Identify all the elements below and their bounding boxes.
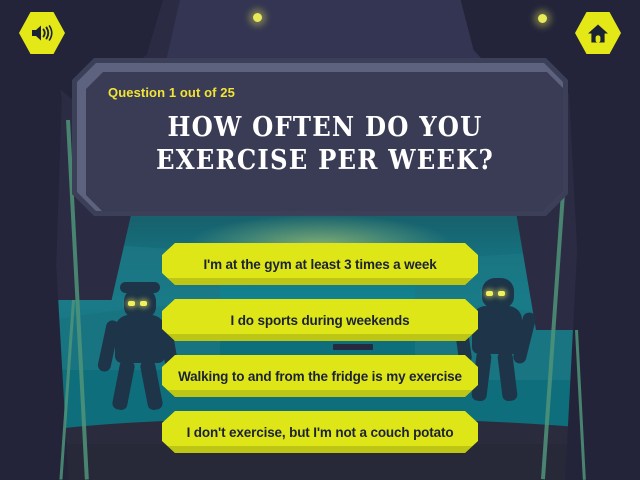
question-panel-body: Question 1 out of 25 How often do you ex… — [86, 72, 564, 212]
button-shade — [162, 334, 478, 341]
button-shade — [162, 390, 478, 397]
quiz-screen: Question 1 out of 25 How often do you ex… — [0, 0, 640, 480]
firefly-1 — [253, 13, 262, 22]
question-text: How often do you exercise per week? — [86, 112, 564, 178]
answer-row: I don't exercise, but I'm not a couch po… — [0, 411, 640, 456]
answer-option-a[interactable]: I'm at the gym at least 3 times a week — [162, 243, 478, 285]
answer-option-c-label: Walking to and from the fridge is my exe… — [178, 369, 462, 384]
question-counter: Question 1 out of 25 — [108, 85, 235, 100]
question-panel-border: Question 1 out of 25 How often do you ex… — [77, 63, 563, 211]
answer-row: Walking to and from the fridge is my exe… — [0, 355, 640, 400]
question-line-1: How often do you — [86, 112, 564, 145]
row-separator-notch — [333, 344, 373, 350]
answer-row: I'm at the gym at least 3 times a week — [0, 243, 640, 288]
answer-row: I do sports during weekends — [0, 299, 640, 344]
button-shade — [162, 446, 478, 453]
answer-option-b[interactable]: I do sports during weekends — [162, 299, 478, 341]
answer-option-b-label: I do sports during weekends — [231, 313, 410, 328]
firefly-2 — [538, 14, 547, 23]
question-line-2: exercise per week? — [86, 145, 564, 178]
question-panel: Question 1 out of 25 How often do you ex… — [72, 58, 568, 216]
home-icon — [587, 23, 609, 44]
answer-option-a-label: I'm at the gym at least 3 times a week — [203, 257, 436, 272]
button-shade — [162, 278, 478, 285]
answer-option-c[interactable]: Walking to and from the fridge is my exe… — [162, 355, 478, 397]
answer-list: I'm at the gym at least 3 times a week I… — [0, 243, 640, 467]
answer-option-d[interactable]: I don't exercise, but I'm not a couch po… — [162, 411, 478, 453]
answer-option-d-label: I don't exercise, but I'm not a couch po… — [187, 425, 454, 440]
speaker-volume-icon — [30, 23, 54, 43]
